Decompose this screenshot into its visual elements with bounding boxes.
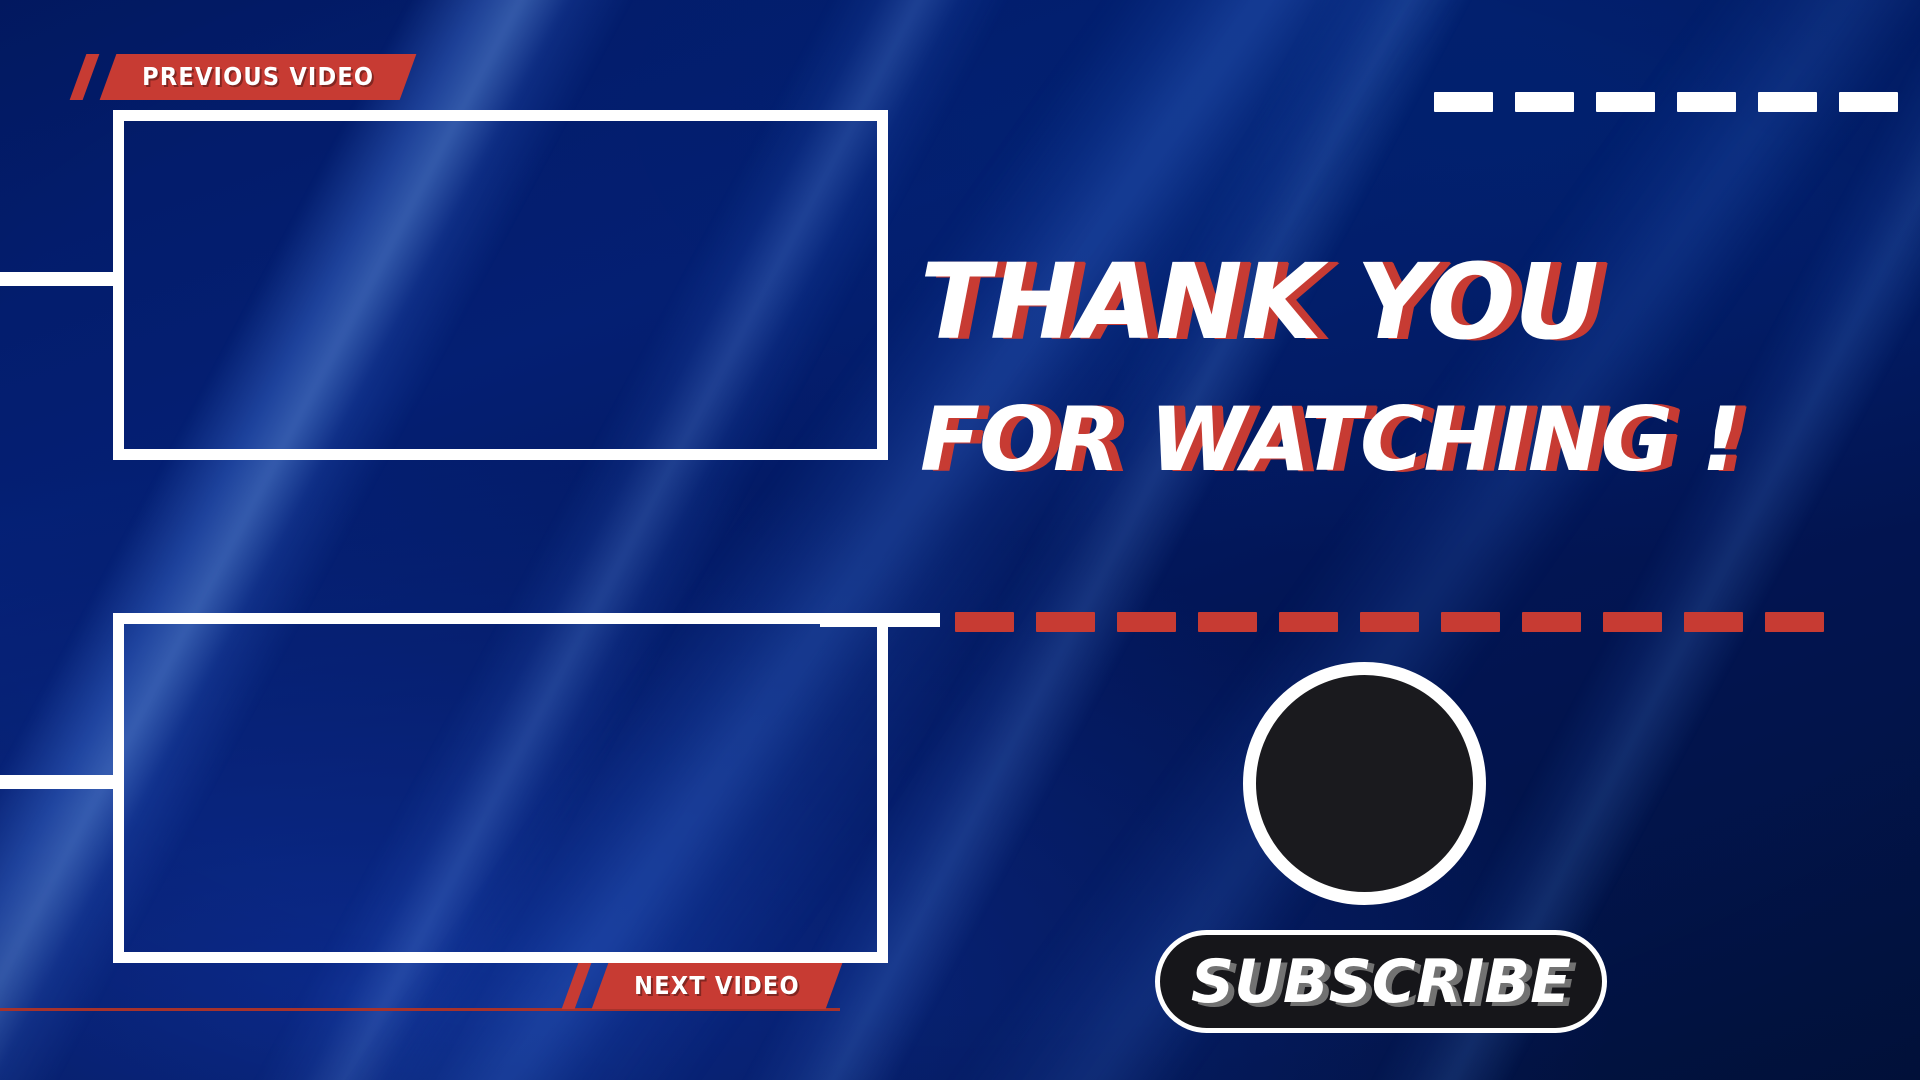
headline-block: THANK YOU FOR WATCHING !	[920, 250, 1820, 484]
dash-segment	[1036, 612, 1095, 632]
dash-segment	[1677, 92, 1736, 112]
dash-segment	[1515, 92, 1574, 112]
dash-segment	[1684, 612, 1743, 632]
dash-segment	[1279, 612, 1338, 632]
subscribe-button[interactable]: SUBSCRIBE	[1155, 930, 1607, 1033]
dashed-rule-white	[1434, 92, 1920, 112]
next-video-label-text: NEXT VIDEO	[634, 971, 800, 1000]
dash-segment	[1360, 612, 1419, 632]
headline-line-one: THANK YOU	[920, 250, 1820, 354]
next-video-label-ribbon[interactable]: NEXT VIDEO	[592, 963, 842, 1009]
dash-segment	[1117, 612, 1176, 632]
dash-segment	[955, 612, 1014, 632]
dash-segment	[1434, 92, 1493, 112]
next-video-label-group: NEXT VIDEO	[600, 963, 834, 1009]
next-video-thumbnail-frame[interactable]	[113, 613, 888, 963]
previous-video-label-text: PREVIOUS VIDEO	[142, 62, 374, 91]
dash-segment	[1441, 612, 1500, 632]
channel-avatar-placeholder[interactable]	[1243, 662, 1486, 905]
previous-video-connector-tick	[0, 272, 113, 286]
dash-segment	[1765, 612, 1824, 632]
dash-segment	[1839, 92, 1898, 112]
subscribe-button-label: SUBSCRIBE	[1191, 947, 1571, 1017]
dash-segment	[1198, 612, 1257, 632]
previous-video-thumbnail-frame[interactable]	[113, 110, 888, 460]
dash-segment	[1758, 92, 1817, 112]
dash-segment	[1596, 92, 1655, 112]
dash-segment	[1603, 612, 1662, 632]
previous-video-label-ribbon[interactable]: PREVIOUS VIDEO	[100, 54, 417, 100]
end-screen-canvas: PREVIOUS VIDEO NEXT VIDEO THANK YOU FOR …	[0, 0, 1920, 1080]
dash-segment	[1522, 612, 1581, 632]
headline-line-two: FOR WATCHING !	[920, 396, 1820, 484]
previous-video-label-group: PREVIOUS VIDEO	[108, 54, 408, 100]
dashed-rule-red	[955, 612, 1846, 632]
next-video-connector-tick	[0, 775, 113, 789]
